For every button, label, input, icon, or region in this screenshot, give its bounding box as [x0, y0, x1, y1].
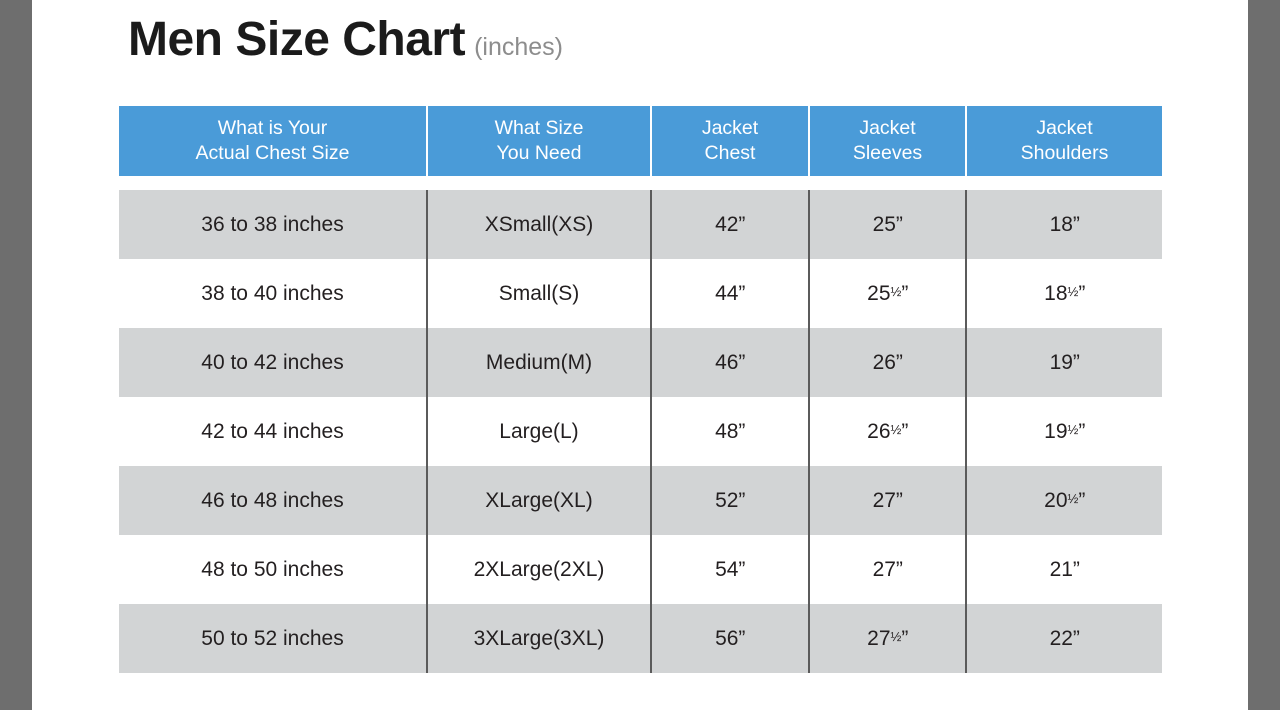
page-title-unit-note: (inches) [474, 35, 563, 60]
table-header: What is Your Actual Chest Size What Size… [119, 106, 1162, 176]
cell-jacket-shoulders: 19” [966, 328, 1162, 397]
table-row: 40 to 42 inchesMedium(M)46”26”19” [119, 328, 1162, 397]
cell-size-you-need: 3XLarge(3XL) [427, 604, 651, 673]
page-title: Men Size Chart (inches) [128, 16, 563, 64]
cell-jacket-shoulders: 21” [966, 535, 1162, 604]
cell-actual-chest-size: 40 to 42 inches [119, 328, 427, 397]
column-header-line-1: What is Your [123, 116, 422, 141]
cell-jacket-shoulders: 18” [966, 190, 1162, 259]
cell-jacket-chest: 46” [651, 328, 809, 397]
table-row: 38 to 40 inchesSmall(S)44”25½”18½” [119, 259, 1162, 328]
cell-jacket-chest: 52” [651, 466, 809, 535]
column-header-jacket-shoulders: Jacket Shoulders [966, 106, 1162, 176]
column-header-line-2: You Need [432, 141, 646, 166]
cell-jacket-sleeves: 26½” [809, 397, 966, 466]
cell-actual-chest-size: 48 to 50 inches [119, 535, 427, 604]
cell-jacket-chest: 44” [651, 259, 809, 328]
cell-jacket-chest: 54” [651, 535, 809, 604]
column-header-jacket-sleeves: Jacket Sleeves [809, 106, 966, 176]
cell-actual-chest-size: 50 to 52 inches [119, 604, 427, 673]
column-header-line-1: Jacket [814, 116, 961, 141]
cell-size-you-need: Small(S) [427, 259, 651, 328]
column-header-line-2: Shoulders [971, 141, 1158, 166]
cell-size-you-need: Large(L) [427, 397, 651, 466]
cell-jacket-shoulders: 20½” [966, 466, 1162, 535]
column-header-line-1: Jacket [971, 116, 1158, 141]
cell-jacket-chest: 48” [651, 397, 809, 466]
size-chart-table-wrapper: What is Your Actual Chest Size What Size… [119, 106, 1162, 673]
header-body-gap [119, 176, 1162, 190]
column-header-line-1: Jacket [656, 116, 804, 141]
column-header-actual-chest-size: What is Your Actual Chest Size [119, 106, 427, 176]
column-header-line-2: Chest [656, 141, 804, 166]
column-header-line-2: Sleeves [814, 141, 961, 166]
letterbox-left-bar [0, 0, 32, 710]
table-body: 36 to 38 inchesXSmall(XS)42”25”18”38 to … [119, 176, 1162, 673]
column-header-line-1: What Size [432, 116, 646, 141]
cell-actual-chest-size: 36 to 38 inches [119, 190, 427, 259]
cell-jacket-shoulders: 19½” [966, 397, 1162, 466]
table-row: 50 to 52 inches3XLarge(3XL)56”27½”22” [119, 604, 1162, 673]
column-header-line-2: Actual Chest Size [123, 141, 422, 166]
cell-actual-chest-size: 38 to 40 inches [119, 259, 427, 328]
cell-jacket-sleeves: 25½” [809, 259, 966, 328]
cell-jacket-chest: 56” [651, 604, 809, 673]
cell-jacket-chest: 42” [651, 190, 809, 259]
table-row: 36 to 38 inchesXSmall(XS)42”25”18” [119, 190, 1162, 259]
table-header-row: What is Your Actual Chest Size What Size… [119, 106, 1162, 176]
cell-size-you-need: 2XLarge(2XL) [427, 535, 651, 604]
table-row: 42 to 44 inchesLarge(L)48”26½”19½” [119, 397, 1162, 466]
column-header-size-you-need: What Size You Need [427, 106, 651, 176]
column-header-jacket-chest: Jacket Chest [651, 106, 809, 176]
cell-jacket-shoulders: 18½” [966, 259, 1162, 328]
cell-jacket-shoulders: 22” [966, 604, 1162, 673]
cell-actual-chest-size: 42 to 44 inches [119, 397, 427, 466]
cell-size-you-need: XLarge(XL) [427, 466, 651, 535]
size-chart-table: What is Your Actual Chest Size What Size… [119, 106, 1162, 673]
cell-size-you-need: Medium(M) [427, 328, 651, 397]
cell-jacket-sleeves: 25” [809, 190, 966, 259]
cell-jacket-sleeves: 27” [809, 535, 966, 604]
page-title-main: Men Size Chart [128, 16, 465, 64]
cell-size-you-need: XSmall(XS) [427, 190, 651, 259]
table-row: 48 to 50 inches2XLarge(2XL)54”27”21” [119, 535, 1162, 604]
slide-canvas: Men Size Chart (inches) What is Your Act… [32, 0, 1248, 710]
cell-jacket-sleeves: 26” [809, 328, 966, 397]
header-body-gap-cell [119, 176, 1162, 190]
cell-actual-chest-size: 46 to 48 inches [119, 466, 427, 535]
table-row: 46 to 48 inchesXLarge(XL)52”27”20½” [119, 466, 1162, 535]
cell-jacket-sleeves: 27½” [809, 604, 966, 673]
cell-jacket-sleeves: 27” [809, 466, 966, 535]
letterbox-right-bar [1248, 0, 1280, 710]
